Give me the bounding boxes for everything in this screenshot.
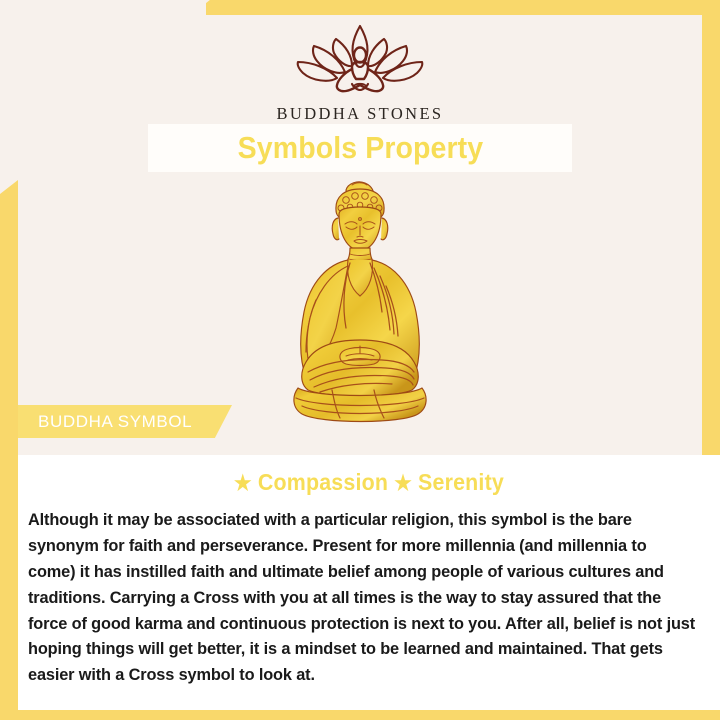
description-paragraph: Although it may be associated with a par… <box>28 507 698 688</box>
attribute-compassion: Compassion <box>258 469 388 495</box>
title-banner: Symbols Property <box>148 124 572 172</box>
brand-wordmark: BUDDHA STONES <box>0 104 720 124</box>
symbol-tag-label: BUDDHA SYMBOL <box>38 412 192 432</box>
page-title: Symbols Property <box>237 130 483 166</box>
star-icon-right: ★ <box>394 472 412 495</box>
buddha-statue-image <box>262 176 458 438</box>
content-panel: ★ Compassion ★ Serenity Although it may … <box>18 455 720 710</box>
top-left-cream-notch <box>0 0 206 16</box>
attribute-serenity: Serenity <box>418 469 504 495</box>
star-icon-left: ★ <box>234 472 252 495</box>
symbol-tag: BUDDHA SYMBOL <box>18 405 232 438</box>
left-yellow-rail <box>0 180 18 720</box>
bottom-yellow-edge <box>0 710 720 720</box>
attributes-headline: ★ Compassion ★ Serenity <box>43 469 696 496</box>
infographic-canvas: BUDDHA STONES Symbols Property <box>0 0 720 720</box>
lotus-meditation-icon <box>284 22 436 98</box>
brand-header: BUDDHA STONES <box>0 22 720 124</box>
